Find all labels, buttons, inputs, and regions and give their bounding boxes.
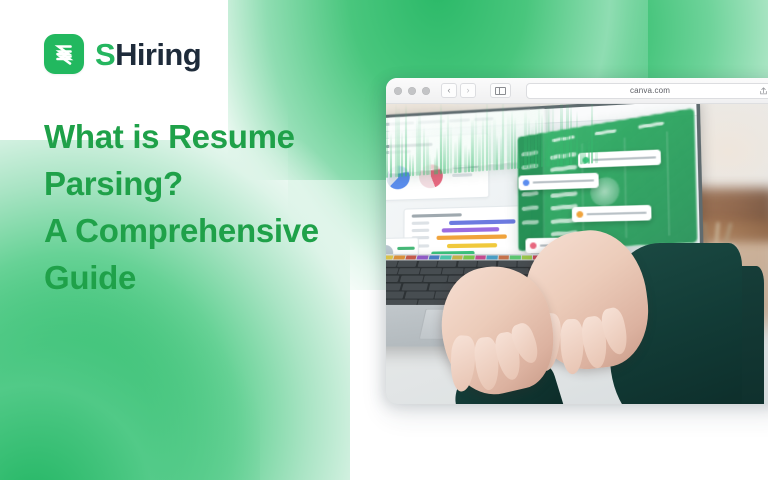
title-line-3: A Comprehensive xyxy=(44,208,394,255)
hero-photo xyxy=(386,104,768,404)
poster-canvas: SHiring What is Resume Parsing? A Compre… xyxy=(0,0,768,480)
brand-name-accent: S xyxy=(95,37,115,72)
brand-lockup[interactable]: SHiring xyxy=(44,34,394,74)
text-column: SHiring What is Resume Parsing? A Compre… xyxy=(44,34,394,301)
sidebar-toggle-icon[interactable] xyxy=(490,83,511,98)
title-line-2: Parsing? xyxy=(44,161,394,208)
minimize-dot[interactable] xyxy=(408,87,416,95)
maximize-dot[interactable] xyxy=(422,87,430,95)
tooltip-card-1 xyxy=(518,173,599,191)
browser-titlebar: ‹ › canva.com xyxy=(386,78,768,104)
back-button[interactable]: ‹ xyxy=(441,83,457,98)
laptop xyxy=(386,116,720,404)
window-controls[interactable] xyxy=(394,87,430,95)
url-text: canva.com xyxy=(527,86,768,95)
navigation-buttons[interactable]: ‹ › xyxy=(441,83,476,98)
shiring-logo-icon xyxy=(44,34,84,74)
close-dot[interactable] xyxy=(394,87,402,95)
address-bar[interactable]: canva.com xyxy=(526,83,768,99)
brand-name-rest: Hiring xyxy=(115,37,201,72)
title-line-4: Guide xyxy=(44,255,394,302)
share-icon[interactable] xyxy=(759,86,768,95)
brand-name: SHiring xyxy=(95,39,201,70)
title-line-1: What is Resume xyxy=(44,114,394,161)
page-title: What is Resume Parsing? A Comprehensive … xyxy=(44,114,394,301)
tooltip-card-3 xyxy=(572,205,652,222)
forward-button[interactable]: › xyxy=(460,83,476,98)
browser-window: ‹ › canva.com xyxy=(386,78,768,404)
background-glow-bottom-left-core xyxy=(0,280,260,480)
